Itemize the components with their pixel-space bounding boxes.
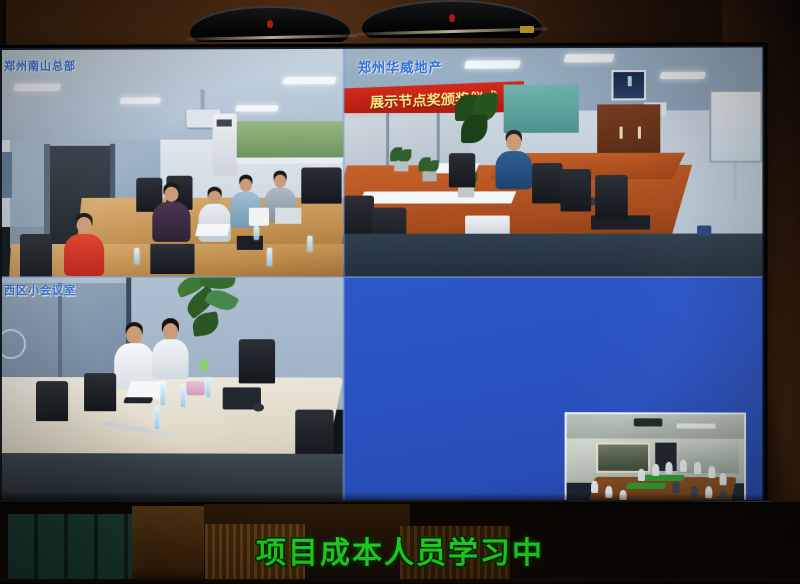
picture-highlight [628, 76, 632, 86]
partition-frame [58, 283, 62, 387]
pip-attendee [591, 481, 598, 493]
ac-display [217, 119, 232, 126]
water-bottle [307, 236, 312, 252]
cabinet-handle [638, 127, 641, 139]
water-bottle [160, 383, 165, 405]
pip-attendee [680, 460, 687, 472]
video-wall-room-photo: 郑州南山总部 展示节点奖颁奖仪式 [0, 0, 800, 584]
ceiling-light [464, 60, 521, 68]
pip-green-items [626, 483, 667, 490]
ceiling-light [119, 98, 161, 104]
pip-ceiling-light [677, 423, 716, 428]
person-purple-shirt [150, 184, 192, 242]
water-bottle [134, 248, 139, 264]
water-bottle [154, 405, 159, 429]
head [208, 191, 221, 205]
cabinet-handle [620, 127, 623, 139]
video-panel-bottom-right[interactable] [344, 277, 765, 507]
pip-ceiling-light [634, 419, 662, 427]
cup-green [200, 360, 208, 370]
whiteboard-stand [734, 163, 737, 201]
office-chair [36, 381, 68, 421]
video-wall[interactable]: 郑州南山总部 展示节点奖颁奖仪式 [0, 45, 764, 506]
person-red-shirt [62, 214, 106, 276]
camera-label-bottom-left: 西区小会议室 [4, 282, 76, 299]
brand-logo-dot-icon [449, 14, 455, 22]
ceiling-projector-icon [201, 89, 205, 111]
tissue-box [249, 208, 269, 226]
torso [496, 151, 533, 189]
head [163, 323, 178, 340]
floor [344, 234, 765, 277]
ceiling-light [659, 72, 706, 79]
plant-leaf [461, 115, 487, 143]
camera-label-top-right: 郑州华威地产 [358, 56, 443, 76]
person-white-tshirt-right [150, 319, 190, 379]
window-frame [237, 157, 344, 163]
head [164, 187, 178, 202]
head [240, 179, 252, 192]
ceiling-light [13, 84, 61, 91]
office-chair [595, 175, 628, 219]
office-chair [84, 373, 116, 411]
pip-attendee [719, 473, 726, 485]
person-blue-polo [494, 131, 535, 190]
head [126, 326, 142, 344]
office-chair [449, 153, 475, 187]
pip-attendee [708, 466, 715, 478]
water-bottle [267, 248, 272, 266]
pip-attendee [652, 464, 659, 476]
pip-attendee [673, 481, 680, 493]
torso [199, 204, 231, 242]
ceiling-unit-label [520, 26, 534, 33]
remote-control [123, 397, 153, 403]
camera-label-top-left: 郑州南山总部 [4, 57, 76, 74]
plant-pot [423, 171, 437, 181]
tissue-box-pink [186, 381, 204, 395]
torso [64, 234, 104, 276]
mouse [253, 403, 264, 411]
brand-logo-dot-icon [267, 20, 273, 28]
office-chair [301, 167, 341, 203]
water-bottle [180, 385, 185, 407]
torso [152, 339, 188, 379]
document [195, 224, 230, 236]
office-chair [20, 234, 52, 277]
wood-cabinet [597, 104, 660, 155]
office-chair [561, 169, 592, 211]
whiteboard [709, 90, 762, 163]
green-whiteboard [504, 84, 579, 133]
laptop [237, 236, 263, 250]
pip-attendee [694, 462, 701, 474]
trash-bin [697, 225, 711, 235]
head [274, 175, 286, 188]
plant-pot [394, 161, 408, 171]
table-runner [359, 191, 516, 203]
head [77, 217, 92, 233]
ceiling-light [282, 77, 336, 84]
window-greenery [237, 121, 344, 157]
video-panel-top-left[interactable]: 郑州南山总部 [0, 47, 344, 277]
pip-framed-painting [598, 444, 648, 470]
head [506, 134, 521, 151]
office-chair [295, 410, 333, 460]
water-bottle [254, 226, 259, 240]
office-chair [532, 163, 562, 203]
ceiling-light [235, 105, 279, 111]
ceiling-light [563, 54, 614, 62]
caption-overlay: 项目成本人员学习中 [0, 528, 800, 572]
pip-attendee [666, 462, 673, 474]
wall-poster [2, 152, 12, 198]
table-plant [388, 147, 414, 173]
video-panel-top-right[interactable]: 展示节点奖颁奖仪式 [344, 45, 765, 277]
pip-attendee [637, 468, 644, 480]
laptop [150, 244, 194, 274]
table-plant [416, 157, 442, 183]
office-chair [239, 339, 275, 383]
video-panel-bottom-left[interactable]: 西区小会议室 [0, 277, 344, 505]
projector-unit [275, 208, 301, 224]
torso [152, 202, 190, 242]
floor-trim [0, 579, 800, 584]
water-bottle [206, 377, 211, 397]
